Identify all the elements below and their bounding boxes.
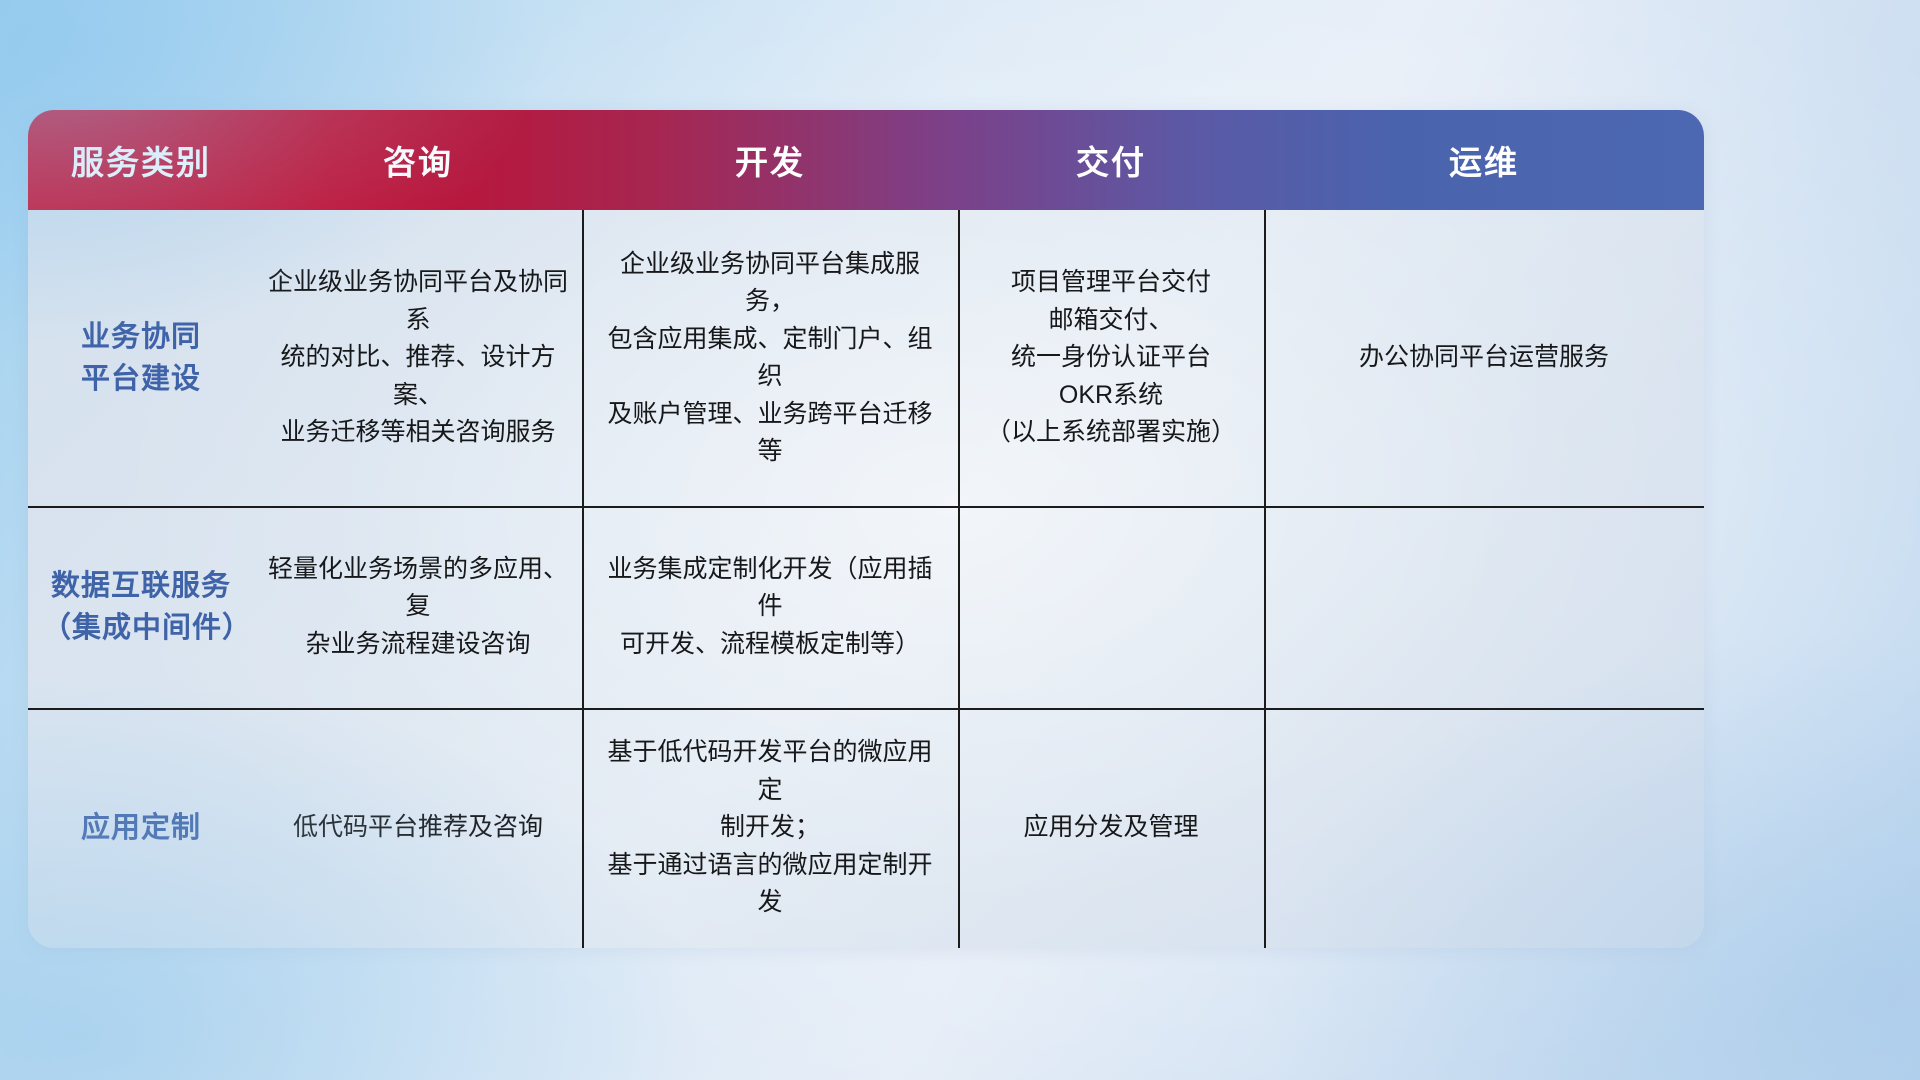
column-divider-1 bbox=[582, 210, 584, 948]
cell-text: 应用分发及管理 bbox=[1023, 809, 1198, 847]
cell-text: 项目管理平台交付 邮箱交付、 统一身份认证平台 OKR系统 （以上系统部署实施） bbox=[986, 264, 1236, 452]
row-category-cell: 业务协同 平台建设 bbox=[28, 210, 254, 506]
table-row: 应用定制 低代码平台推荐及咨询 基于低代码开发平台的微应用定 制开发； 基于通过… bbox=[28, 708, 1704, 948]
cell-text: 低代码平台推荐及咨询 bbox=[293, 809, 543, 847]
cell-text: 企业级业务协同平台集成服务， 包含应用集成、定制门户、组织 及账户管理、业务跨平… bbox=[596, 246, 944, 471]
cell-text: 办公协同平台运营服务 bbox=[1359, 339, 1609, 377]
column-header-category: 服务类别 bbox=[28, 136, 254, 184]
cell-delivery: 应用分发及管理 bbox=[958, 708, 1264, 948]
table-body: 业务协同 平台建设 企业级业务协同平台及协同系 统的对比、推荐、设计方案、 业务… bbox=[28, 210, 1704, 948]
row-category-cell: 数据互联服务 （集成中间件） bbox=[28, 506, 254, 708]
cell-operations bbox=[1264, 506, 1704, 708]
category-label: 数据互联服务 （集成中间件） bbox=[42, 565, 240, 649]
column-header-development: 开发 bbox=[582, 136, 958, 184]
cell-operations: 办公协同平台运营服务 bbox=[1264, 210, 1704, 506]
cell-consulting: 企业级业务协同平台及协同系 统的对比、推荐、设计方案、 业务迁移等相关咨询服务 bbox=[254, 210, 582, 506]
cell-text: 业务集成定制化开发（应用插件 可开发、流程模板定制等） bbox=[596, 551, 944, 664]
column-header-delivery: 交付 bbox=[958, 136, 1264, 184]
cell-development: 业务集成定制化开发（应用插件 可开发、流程模板定制等） bbox=[582, 506, 958, 708]
cell-delivery bbox=[958, 506, 1264, 708]
cell-text: 企业级业务协同平台及协同系 统的对比、推荐、设计方案、 业务迁移等相关咨询服务 bbox=[268, 264, 568, 452]
category-label: 应用定制 bbox=[81, 807, 201, 849]
row-category-cell: 应用定制 bbox=[28, 708, 254, 948]
table-header: 服务类别 咨询 开发 交付 运维 bbox=[28, 110, 1704, 210]
cell-text: 轻量化业务场景的多应用、复 杂业务流程建设咨询 bbox=[268, 551, 568, 664]
table-row: 数据互联服务 （集成中间件） 轻量化业务场景的多应用、复 杂业务流程建设咨询 业… bbox=[28, 506, 1704, 708]
cell-operations bbox=[1264, 708, 1704, 948]
cell-text: 基于低代码开发平台的微应用定 制开发； 基于通过语言的微应用定制开发 bbox=[596, 734, 944, 922]
cell-consulting: 轻量化业务场景的多应用、复 杂业务流程建设咨询 bbox=[254, 506, 582, 708]
column-divider-3 bbox=[1264, 210, 1266, 948]
cell-development: 企业级业务协同平台集成服务， 包含应用集成、定制门户、组织 及账户管理、业务跨平… bbox=[582, 210, 958, 506]
category-label: 业务协同 平台建设 bbox=[81, 316, 201, 400]
column-divider-2 bbox=[958, 210, 960, 948]
table-header-row: 服务类别 咨询 开发 交付 运维 bbox=[28, 110, 1704, 210]
column-header-operations: 运维 bbox=[1264, 136, 1704, 184]
cell-development: 基于低代码开发平台的微应用定 制开发； 基于通过语言的微应用定制开发 bbox=[582, 708, 958, 948]
page-background: 服务类别 咨询 开发 交付 运维 业务协同 平台建设 企业级业务协同平台及协同系 bbox=[0, 0, 1920, 1080]
row-divider-2 bbox=[28, 708, 1704, 710]
column-header-consulting: 咨询 bbox=[254, 136, 582, 184]
cell-consulting: 低代码平台推荐及咨询 bbox=[254, 708, 582, 948]
cell-delivery: 项目管理平台交付 邮箱交付、 统一身份认证平台 OKR系统 （以上系统部署实施） bbox=[958, 210, 1264, 506]
table-row: 业务协同 平台建设 企业级业务协同平台及协同系 统的对比、推荐、设计方案、 业务… bbox=[28, 210, 1704, 506]
row-divider-1 bbox=[28, 506, 1704, 508]
service-category-table: 服务类别 咨询 开发 交付 运维 业务协同 平台建设 企业级业务协同平台及协同系 bbox=[28, 110, 1704, 948]
